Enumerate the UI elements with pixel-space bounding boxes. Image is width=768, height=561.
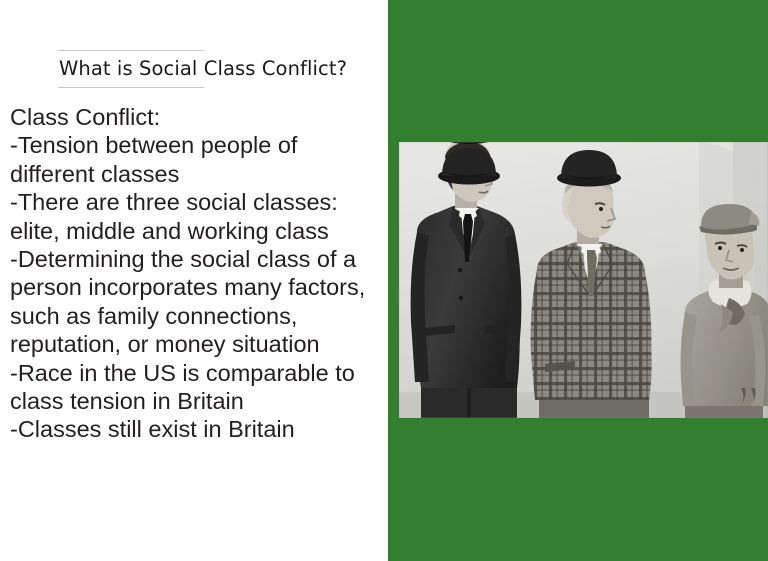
class-sketch-photo [399, 142, 768, 418]
photo-illustration [399, 142, 768, 418]
title-block: What is Social Class Conflict? [58, 50, 388, 88]
body-text-block: Class Conflict: -Tension between people … [10, 103, 388, 444]
title-rule-bottom [58, 87, 204, 88]
page-title: What is Social Class Conflict? [58, 51, 388, 87]
body-text: Class Conflict: -Tension between people … [10, 103, 388, 444]
slide: What is Social Class Conflict? Class Con… [0, 0, 768, 561]
